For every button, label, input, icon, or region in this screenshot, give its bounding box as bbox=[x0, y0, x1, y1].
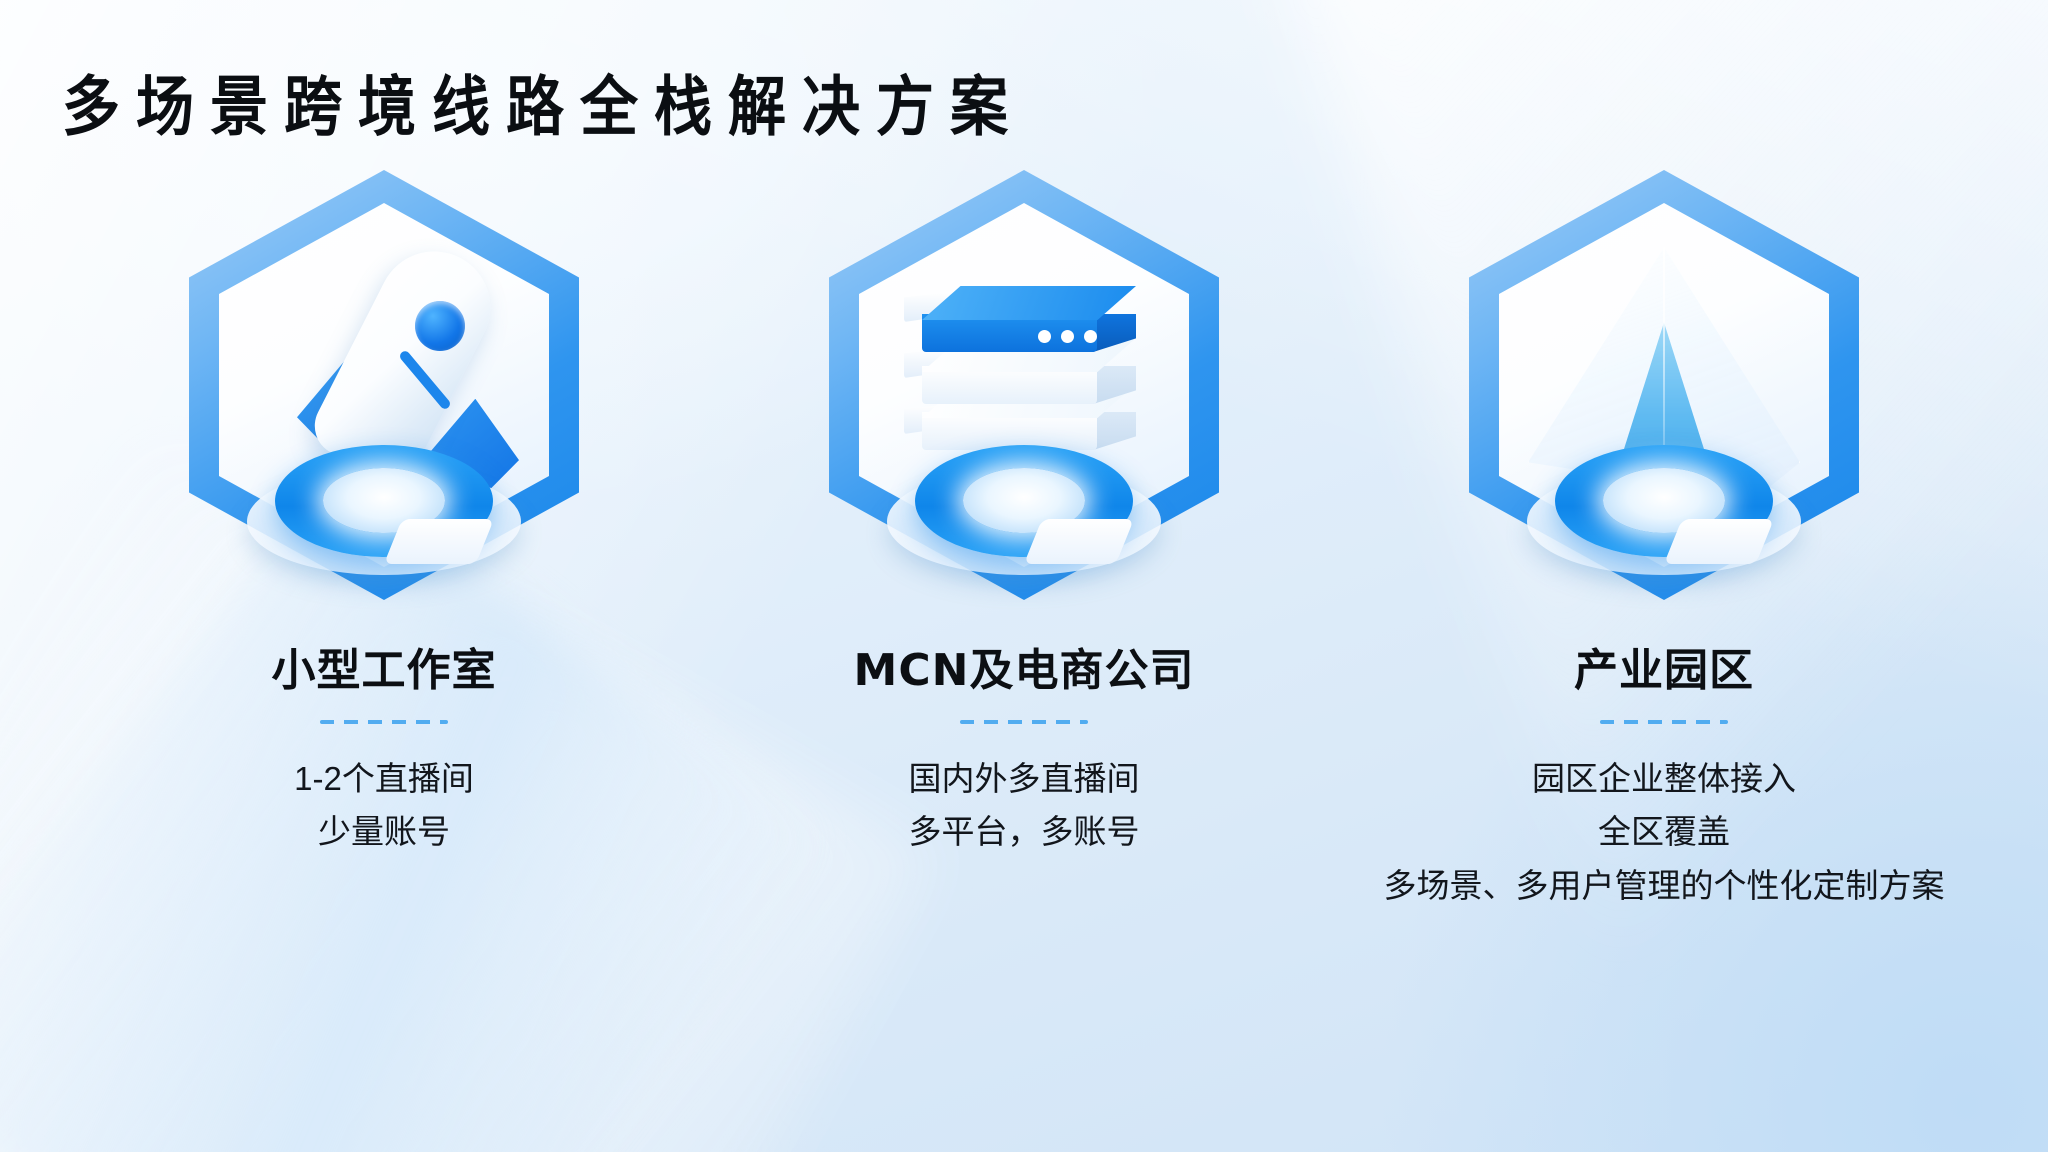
card-description-line: 多场景、多用户管理的个性化定制方案 bbox=[1384, 859, 1945, 912]
ring-notch bbox=[1024, 519, 1134, 564]
card-description: 国内外多直播间 多平台，多账号 bbox=[909, 752, 1140, 859]
card-description-line: 全区覆盖 bbox=[1384, 805, 1945, 858]
pyramid-icon bbox=[1469, 170, 1859, 600]
hexagon-badge bbox=[189, 170, 579, 600]
dashed-divider bbox=[1600, 720, 1728, 724]
ring-notch bbox=[1664, 519, 1774, 564]
glow-ring-platform bbox=[275, 445, 493, 557]
rocket-window bbox=[415, 301, 465, 351]
dashed-divider bbox=[960, 720, 1088, 724]
dashed-divider bbox=[320, 720, 448, 724]
page-title: 多场景跨境线路全栈解决方案 bbox=[62, 54, 1024, 148]
glow-ring-platform bbox=[1555, 445, 1773, 557]
solution-card[interactable]: MCN及电商公司 国内外多直播间 多平台，多账号 bbox=[704, 170, 1344, 859]
card-title: 小型工作室 bbox=[272, 634, 497, 698]
solution-card[interactable]: 产业园区 园区企业整体接入 全区覆盖 多场景、多用户管理的个性化定制方案 bbox=[1344, 170, 1984, 912]
card-description-line: 少量账号 bbox=[294, 805, 474, 858]
card-description-line: 国内外多直播间 bbox=[909, 752, 1140, 805]
card-title: 产业园区 bbox=[1574, 634, 1754, 698]
card-title: MCN及电商公司 bbox=[854, 634, 1195, 698]
card-description-line: 多平台，多账号 bbox=[909, 805, 1140, 858]
rocket-icon bbox=[189, 170, 579, 600]
ring-notch bbox=[384, 519, 494, 564]
hexagon-badge bbox=[1469, 170, 1859, 600]
card-description-line: 园区企业整体接入 bbox=[1384, 752, 1945, 805]
card-description: 1-2个直播间 少量账号 bbox=[294, 752, 474, 859]
glow-ring-platform bbox=[915, 445, 1133, 557]
pyramid-edge bbox=[1663, 247, 1665, 462]
solution-cards-row: 小型工作室 1-2个直播间 少量账号 bbox=[0, 170, 2048, 912]
card-description: 园区企业整体接入 全区覆盖 多场景、多用户管理的个性化定制方案 bbox=[1384, 752, 1945, 912]
card-description-line: 1-2个直播间 bbox=[294, 752, 474, 805]
status-dots bbox=[1038, 330, 1097, 343]
server-stack-icon bbox=[829, 170, 1219, 600]
hexagon-badge bbox=[829, 170, 1219, 600]
solution-card[interactable]: 小型工作室 1-2个直播间 少量账号 bbox=[64, 170, 704, 859]
stack-layer-top bbox=[922, 286, 1136, 352]
